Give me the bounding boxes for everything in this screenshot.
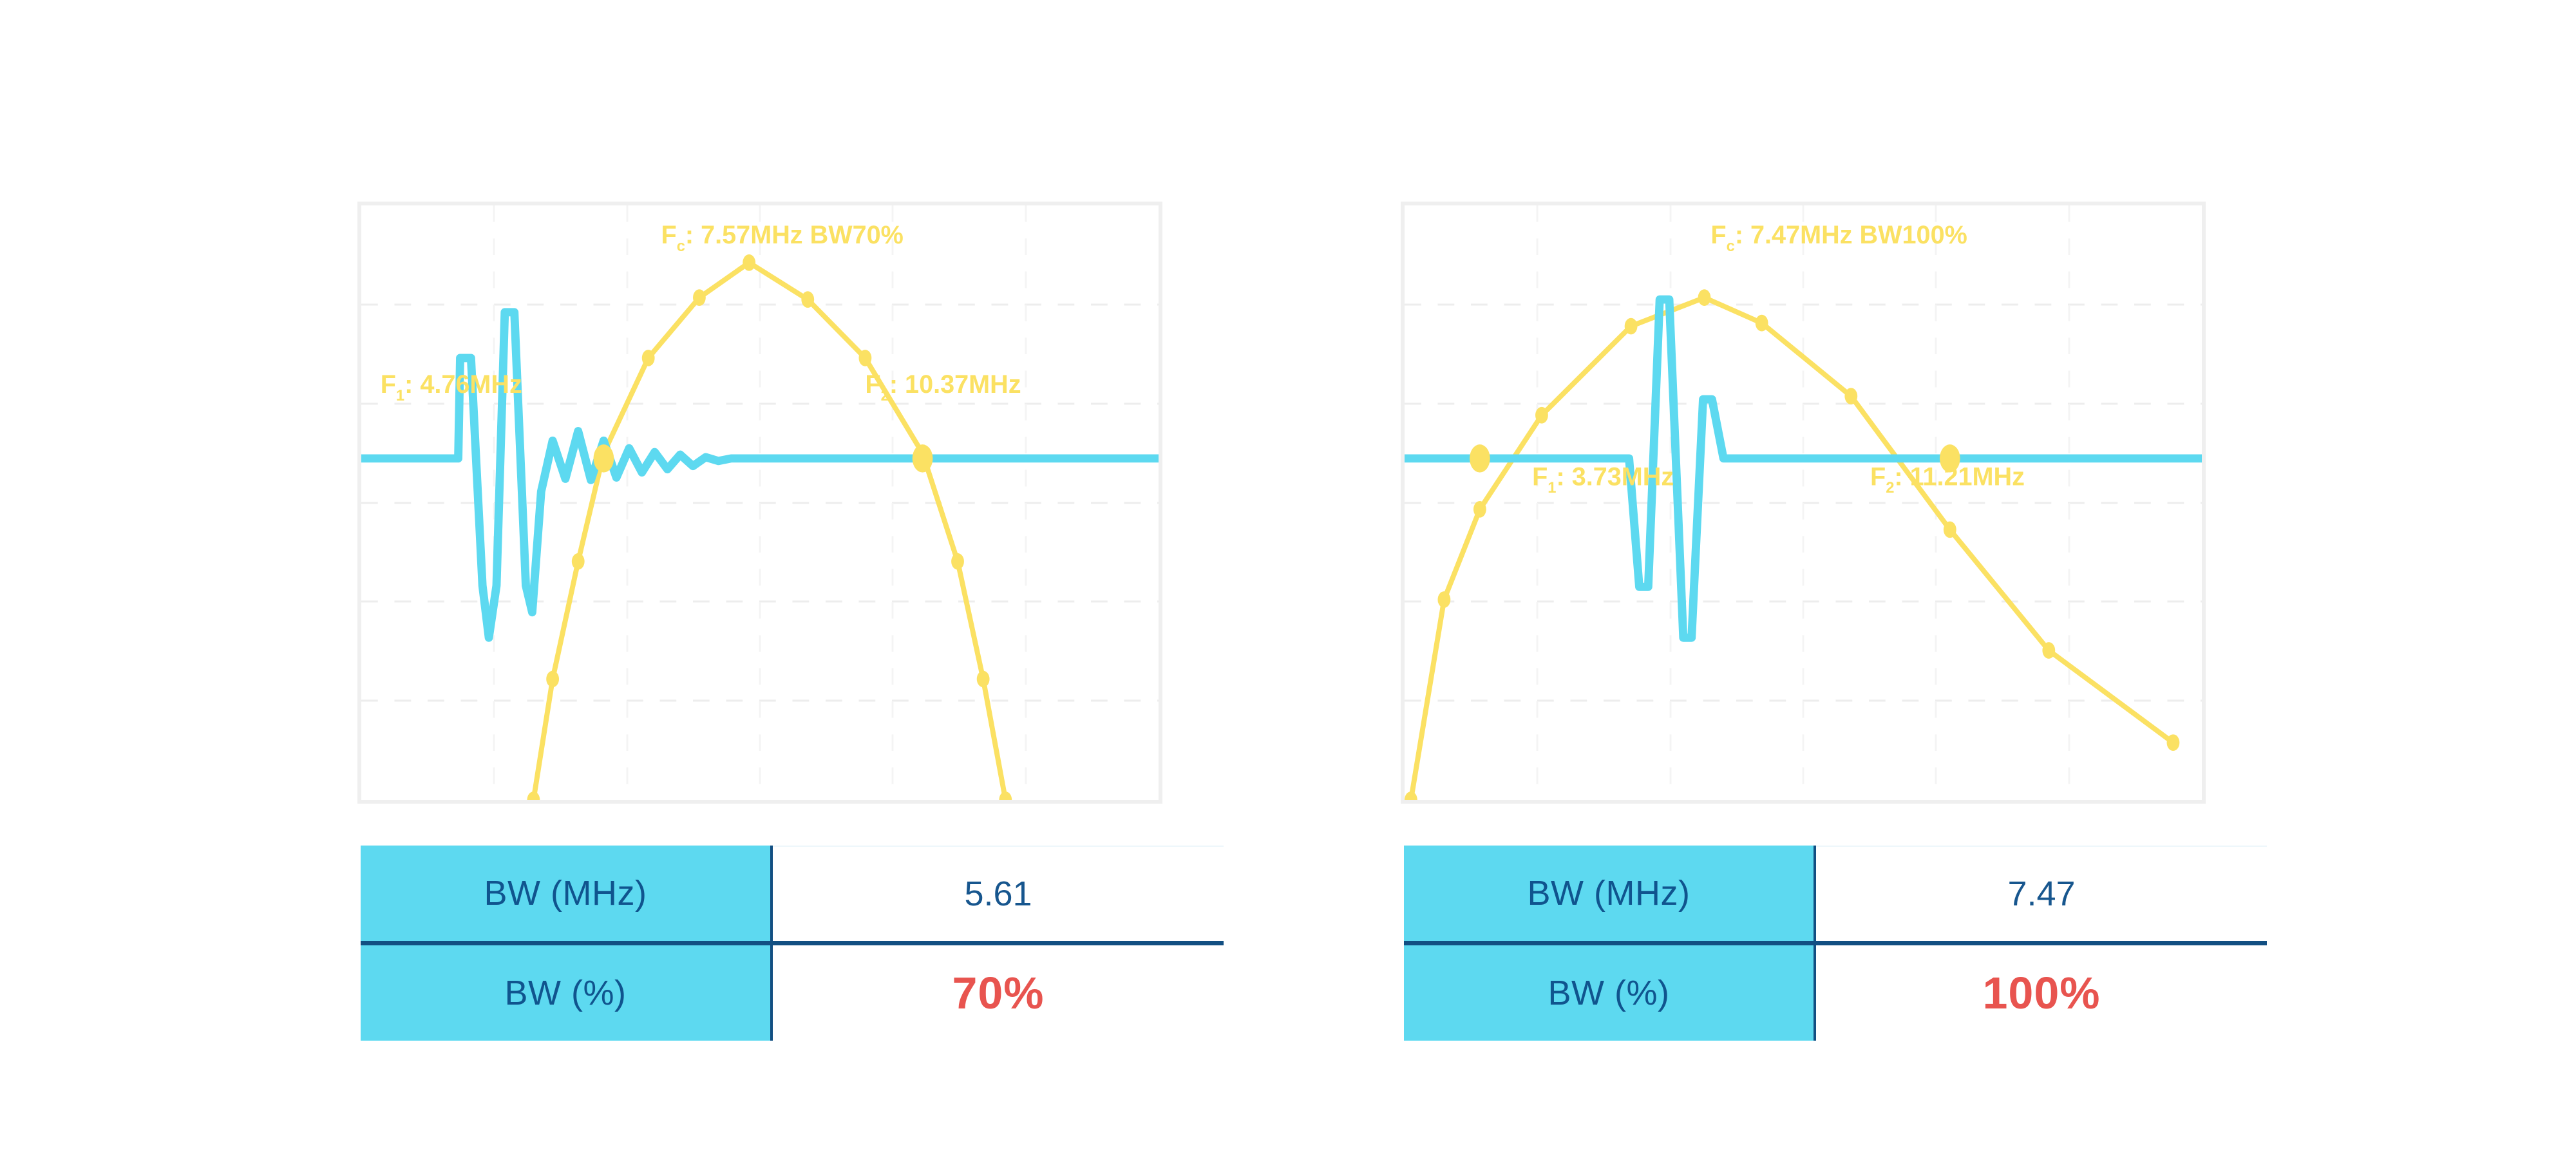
bw-mhz-value-cell: 7.47 xyxy=(1816,846,2267,941)
bw-mhz-label: BW (MHz) xyxy=(361,846,773,941)
spectrum-chart-right: Fc: 7.47MHz BW100%F1: 3.73MHzF2: 11.21MH… xyxy=(1405,205,2202,800)
bw-percent-value: 100% xyxy=(1982,967,2100,1019)
spectrum-chart-left: Fc: 7.57MHz BW70%F1: 4.76MHzF2: 10.37MHz xyxy=(361,205,1159,800)
bw-mhz-value: 5.61 xyxy=(964,874,1032,914)
bw-percent-label: BW (%) xyxy=(361,945,773,1041)
table-row: BW (MHz) 7.47 xyxy=(1404,846,2267,945)
figure-root: Fc: 7.57MHz BW70%F1: 4.76MHzF2: 10.37MHz… xyxy=(0,0,2576,1154)
bw-mhz-value: 7.47 xyxy=(2007,874,2075,914)
annotation-f2: F2: 10.37MHz xyxy=(865,370,1021,404)
bw-mhz-label: BW (MHz) xyxy=(1404,846,1816,941)
panel-left: Fc: 7.57MHz BW70%F1: 4.76MHzF2: 10.37MHz xyxy=(357,202,1162,804)
series-spectrum xyxy=(1405,289,2179,800)
chart-frame-left: Fc: 7.57MHz BW70%F1: 4.76MHzF2: 10.37MHz xyxy=(357,202,1162,804)
bw-percent-label: BW (%) xyxy=(1404,945,1816,1041)
bw-percent-value: 70% xyxy=(952,967,1044,1019)
panel-right: Fc: 7.47MHz BW100%F1: 3.73MHzF2: 11.21MH… xyxy=(1401,202,2206,804)
bw-table-right: BW (MHz) 7.47 BW (%) 100% xyxy=(1404,846,2267,1041)
grid-lines xyxy=(1405,205,2202,800)
table-row: BW (MHz) 5.61 xyxy=(361,846,1224,945)
f1-marker xyxy=(594,444,614,472)
table-row: BW (%) 100% xyxy=(1404,945,2267,1041)
bw-mhz-value-cell: 5.61 xyxy=(773,846,1224,941)
annotation-center: Fc: 7.57MHz BW70% xyxy=(661,221,903,255)
annotation-f2: F2: 11.21MHz xyxy=(1870,462,2025,497)
annotation-center: Fc: 7.47MHz BW100% xyxy=(1710,221,1967,255)
bw-table-left: BW (MHz) 5.61 BW (%) 70% xyxy=(361,846,1224,1041)
bw-percent-value-cell: 70% xyxy=(773,945,1224,1041)
f1-marker xyxy=(1470,444,1490,472)
bw-percent-value-cell: 100% xyxy=(1816,945,2267,1041)
series-spectrum xyxy=(527,254,1012,800)
table-row: BW (%) 70% xyxy=(361,945,1224,1041)
chart-frame-right: Fc: 7.47MHz BW100%F1: 3.73MHzF2: 11.21MH… xyxy=(1401,202,2206,804)
f2-marker xyxy=(913,444,933,472)
